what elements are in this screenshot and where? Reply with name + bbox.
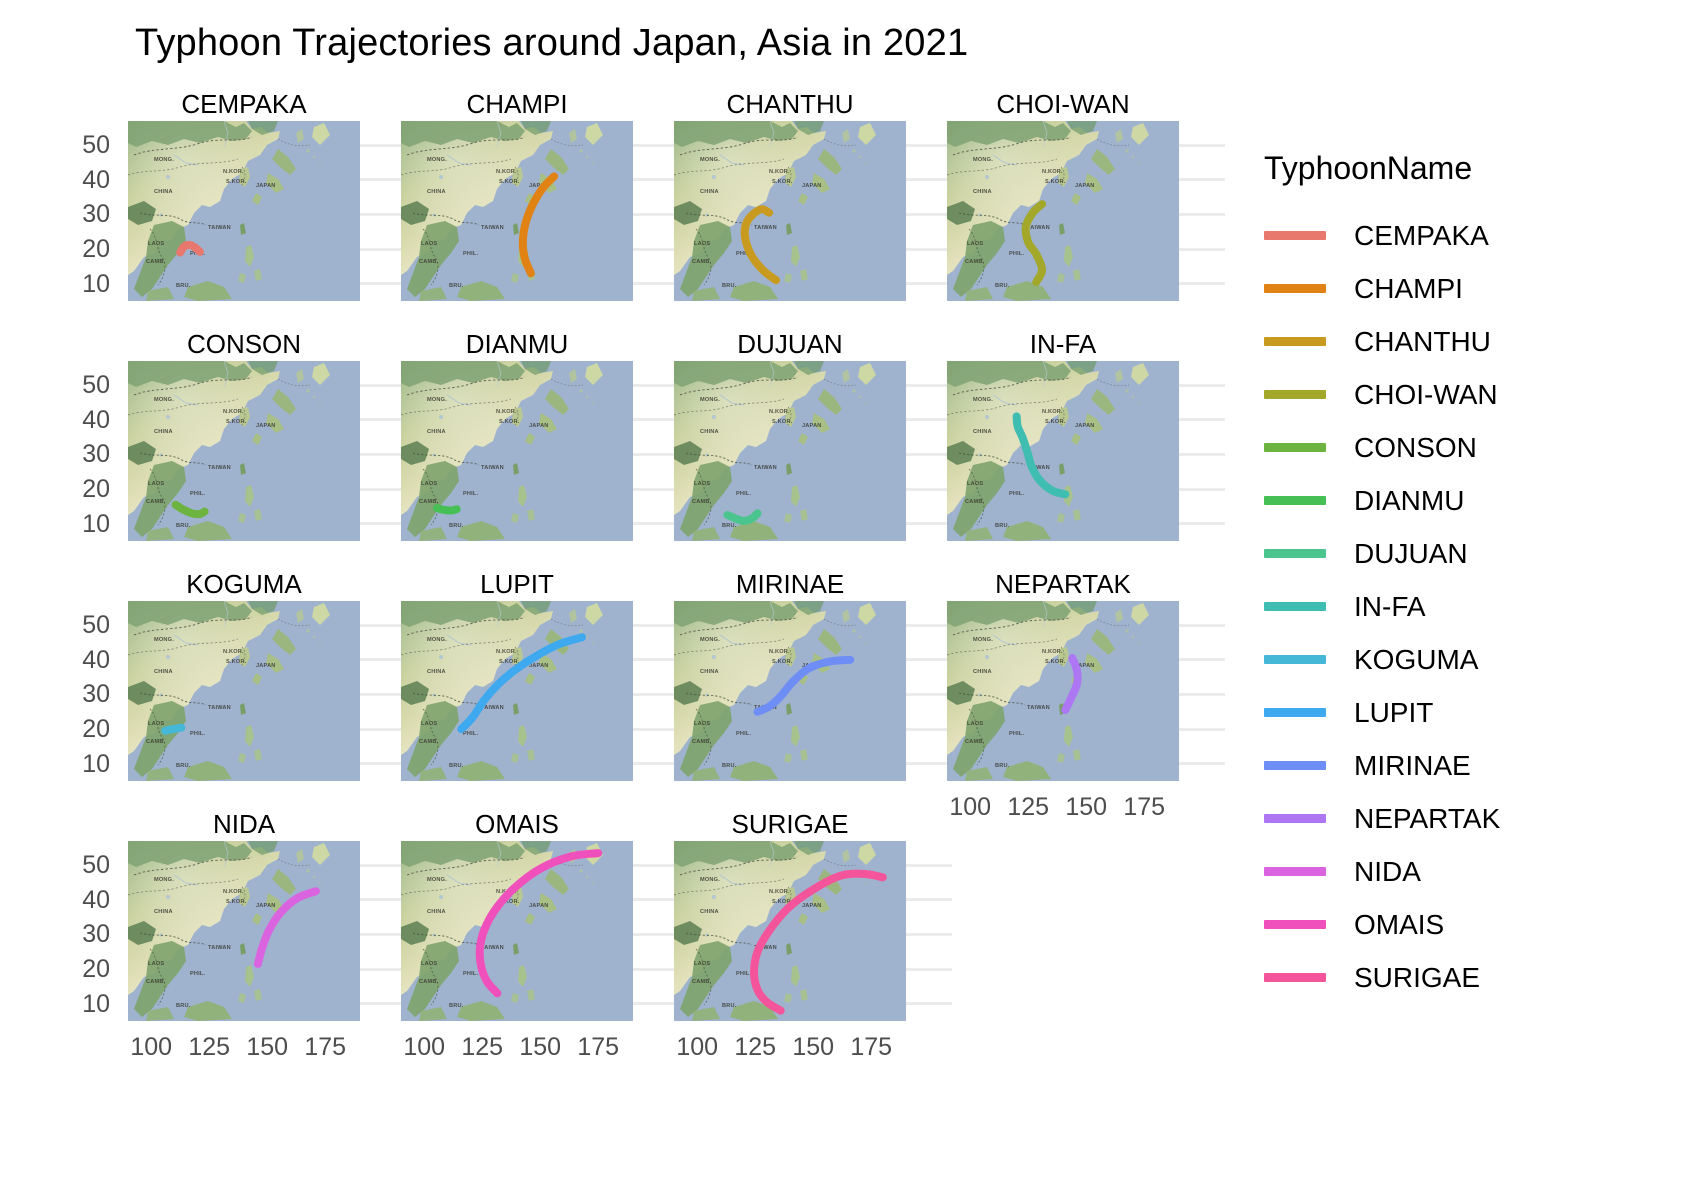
y-tick-label: 40 (58, 168, 110, 193)
y-gridline (1179, 418, 1225, 421)
y-tick-label: 20 (58, 717, 110, 742)
y-gridline (633, 522, 679, 525)
trajectory-layer (128, 361, 360, 541)
x-tick-label: 100 (939, 795, 1001, 820)
legend-item-label: NEPARTAK (1354, 803, 1500, 835)
x-tick-label: 125 (451, 1035, 513, 1060)
y-tick-label: 30 (58, 442, 110, 467)
y-tick-label: 10 (58, 992, 110, 1017)
legend-color-swatch (1264, 337, 1326, 346)
typhoon-track-cempaka (180, 245, 200, 253)
gridline-gutter-left (114, 361, 128, 541)
y-gridline (906, 144, 952, 147)
map-panel: MONG. N.KOR. S.KOR. JAPAN CHINA TAIWAN L… (128, 361, 360, 541)
typhoon-track-dianmu (437, 508, 457, 510)
y-gridline (633, 418, 679, 421)
gridline-gutter (906, 361, 952, 541)
facet-strip-label: DIANMU (401, 328, 633, 361)
y-gridline (906, 282, 952, 285)
y-gridline (633, 968, 679, 971)
y-gridline (1179, 762, 1225, 765)
gridline-gutter (906, 841, 952, 1021)
legend-color-swatch (1264, 655, 1326, 664)
y-gridline (906, 248, 952, 251)
typhoon-track-omais (480, 853, 599, 993)
y-gridline (906, 488, 952, 491)
gridline-gutter (1179, 601, 1225, 781)
y-gridline (1179, 384, 1225, 387)
y-tick-label: 40 (58, 408, 110, 433)
y-gridline (360, 144, 406, 147)
legend-item[interactable]: CHAMPI (1262, 262, 1682, 315)
typhoon-track-choi-wan (1026, 204, 1042, 282)
y-tick-label: 10 (58, 512, 110, 537)
gridline-gutter-left (114, 121, 128, 301)
y-gridline (906, 968, 952, 971)
facet-panel-omais: OMAIS (401, 808, 633, 1021)
map-panel: MONG. N.KOR. S.KOR. JAPAN CHINA TAIWAN L… (401, 841, 633, 1021)
y-gridline (633, 693, 679, 696)
map-panel: MONG. N.KOR. S.KOR. JAPAN CHINA TAIWAN L… (674, 841, 906, 1021)
legend-item-label: CHAMPI (1354, 273, 1463, 305)
legend-item-label: IN-FA (1354, 591, 1426, 623)
y-tick-label: 50 (58, 373, 110, 398)
trajectory-layer (947, 361, 1179, 541)
facet-strip-label: NEPARTAK (947, 568, 1179, 601)
gridline-gutter (633, 361, 679, 541)
map-panel: MONG. N.KOR. S.KOR. JAPAN CHINA TAIWAN L… (947, 121, 1179, 301)
y-tick-label: 20 (58, 237, 110, 262)
facet-strip-label: IN-FA (947, 328, 1179, 361)
map-panel: MONG. N.KOR. S.KOR. JAPAN CHINA TAIWAN L… (674, 361, 906, 541)
legend-color-swatch (1264, 814, 1326, 823)
y-gridline (633, 728, 679, 731)
legend-item-label: CHANTHU (1354, 326, 1491, 358)
gridline-gutter (1179, 361, 1225, 541)
y-gridline (633, 453, 679, 456)
gridline-gutter (360, 841, 406, 1021)
typhoon-track-nida (258, 891, 316, 964)
gridline-gutter (360, 121, 406, 301)
y-gridline (633, 282, 679, 285)
x-tick-label: 175 (840, 1035, 902, 1060)
y-gridline (906, 213, 952, 216)
legend-color-swatch (1264, 920, 1326, 929)
facet-strip-label: MIRINAE (674, 568, 906, 601)
x-tick-label: 100 (120, 1035, 182, 1060)
y-gridline (906, 522, 952, 525)
trajectory-layer (401, 601, 633, 781)
facet-strip-label: CHANTHU (674, 88, 906, 121)
legend-color-swatch (1264, 708, 1326, 717)
y-gridline (906, 933, 952, 936)
typhoon-track-nepartak (1065, 658, 1077, 710)
legend-item[interactable]: CHANTHU (1262, 315, 1682, 368)
legend-item-label: OMAIS (1354, 909, 1444, 941)
y-gridline (906, 453, 952, 456)
typhoon-track-conson (176, 505, 205, 514)
facet-strip-label: SURIGAE (674, 808, 906, 841)
y-gridline (1179, 144, 1225, 147)
trajectory-layer (674, 841, 906, 1021)
facet-panel-conson: CONSON (128, 328, 360, 541)
y-gridline (633, 213, 679, 216)
x-tick-label: 150 (1055, 795, 1117, 820)
y-gridline (360, 418, 406, 421)
y-gridline (1179, 178, 1225, 181)
y-gridline (906, 693, 952, 696)
y-gridline (906, 1002, 952, 1005)
facet-panel-dujuan: DUJUAN (674, 328, 906, 541)
y-tick-label: 30 (58, 922, 110, 947)
y-gridline (906, 418, 952, 421)
facet-strip-label: NIDA (128, 808, 360, 841)
y-gridline (633, 1002, 679, 1005)
y-gridline (360, 658, 406, 661)
y-gridline (1179, 488, 1225, 491)
y-gridline (906, 178, 952, 181)
legend-item[interactable]: NIDA (1262, 845, 1682, 898)
trajectory-layer (128, 601, 360, 781)
legend-item[interactable]: DIANMU (1262, 474, 1682, 527)
facet-panel-nida: NIDA (128, 808, 360, 1021)
y-gridline (360, 282, 406, 285)
legend-title: TyphoonName (1264, 150, 1682, 187)
y-gridline (360, 384, 406, 387)
legend-item[interactable]: KOGUMA (1262, 633, 1682, 686)
legend-item-label: DUJUAN (1354, 538, 1468, 570)
legend-item-list: CEMPAKACHAMPICHANTHUCHOI-WANCONSONDIANMU… (1262, 209, 1682, 1004)
facet-panel-choi-wan: CHOI-WAN (947, 88, 1179, 301)
legend-color-swatch (1264, 284, 1326, 293)
legend-item-label: CHOI-WAN (1354, 379, 1498, 411)
legend-item[interactable]: CONSON (1262, 421, 1682, 474)
y-gridline (360, 522, 406, 525)
map-panel: MONG. N.KOR. S.KOR. JAPAN CHINA TAIWAN L… (128, 601, 360, 781)
x-tick-label: 150 (509, 1035, 571, 1060)
y-gridline (633, 488, 679, 491)
y-gridline (906, 384, 952, 387)
facet-panel-cempaka: CEMPAKA (128, 88, 360, 301)
y-gridline (360, 693, 406, 696)
facet-panel-in-fa: IN-FA (947, 328, 1179, 541)
y-gridline (1179, 282, 1225, 285)
y-tick-label: 40 (58, 648, 110, 673)
y-tick-label: 10 (58, 752, 110, 777)
facet-strip-label: CHAMPI (401, 88, 633, 121)
facet-strip-label: CONSON (128, 328, 360, 361)
trajectory-layer (674, 121, 906, 301)
legend-color-swatch (1264, 390, 1326, 399)
trajectory-layer (128, 841, 360, 1021)
y-gridline (1179, 453, 1225, 456)
legend-item-label: MIRINAE (1354, 750, 1471, 782)
y-gridline (360, 933, 406, 936)
facet-strip-label: OMAIS (401, 808, 633, 841)
y-gridline (633, 248, 679, 251)
x-tick-label: 100 (393, 1035, 455, 1060)
legend-item-label: DIANMU (1354, 485, 1464, 517)
gridline-gutter (906, 121, 952, 301)
typhoon-track-koguma (165, 728, 181, 731)
x-tick-label: 175 (567, 1035, 629, 1060)
trajectory-layer (947, 601, 1179, 781)
y-gridline (633, 178, 679, 181)
trajectory-layer (401, 361, 633, 541)
y-gridline (360, 762, 406, 765)
trajectory-layer (401, 121, 633, 301)
y-gridline (1179, 693, 1225, 696)
map-panel: MONG. N.KOR. S.KOR. JAPAN CHINA TAIWAN L… (401, 121, 633, 301)
y-tick-label: 30 (58, 202, 110, 227)
y-gridline (633, 144, 679, 147)
facet-strip-label: LUPIT (401, 568, 633, 601)
x-tick-label: 175 (294, 1035, 356, 1060)
legend-color-swatch (1264, 496, 1326, 505)
facet-panel-koguma: KOGUMA (128, 568, 360, 781)
typhoon-track-mirinae (758, 660, 851, 712)
figure-root: Typhoon Trajectories around Japan, Asia … (0, 0, 1694, 1202)
facet-strip-label: KOGUMA (128, 568, 360, 601)
y-gridline (633, 658, 679, 661)
legend-item-label: NIDA (1354, 856, 1421, 888)
x-tick-label: 100 (666, 1035, 728, 1060)
y-gridline (360, 898, 406, 901)
typhoon-track-dujuan (727, 513, 757, 521)
y-gridline (360, 728, 406, 731)
y-gridline (906, 864, 952, 867)
map-panel: MONG. N.KOR. S.KOR. JAPAN CHINA TAIWAN L… (947, 601, 1179, 781)
map-panel: MONG. N.KOR. S.KOR. JAPAN CHINA TAIWAN L… (674, 121, 906, 301)
x-tick-label: 125 (997, 795, 1059, 820)
facet-panel-mirinae: MIRINAE (674, 568, 906, 781)
legend-item[interactable]: OMAIS (1262, 898, 1682, 951)
y-gridline (906, 624, 952, 627)
gridline-gutter (633, 121, 679, 301)
legend-item[interactable]: CHOI-WAN (1262, 368, 1682, 421)
legend-item[interactable]: LUPIT (1262, 686, 1682, 739)
x-tick-label: 175 (1113, 795, 1175, 820)
legend-color-swatch (1264, 602, 1326, 611)
y-gridline (360, 488, 406, 491)
y-gridline (633, 864, 679, 867)
legend-color-swatch (1264, 973, 1326, 982)
typhoon-track-surigae (754, 874, 883, 1011)
gridline-gutter (906, 601, 952, 781)
y-gridline (1179, 624, 1225, 627)
x-tick-label: 150 (236, 1035, 298, 1060)
y-gridline (633, 624, 679, 627)
gridline-gutter (1179, 121, 1225, 301)
y-gridline (1179, 248, 1225, 251)
y-gridline (360, 1002, 406, 1005)
legend-item-label: SURIGAE (1354, 962, 1480, 994)
trajectory-layer (128, 121, 360, 301)
y-gridline (906, 658, 952, 661)
y-gridline (360, 864, 406, 867)
y-tick-label: 50 (58, 853, 110, 878)
legend-color-swatch (1264, 231, 1326, 240)
y-gridline (360, 248, 406, 251)
trajectory-layer (674, 361, 906, 541)
trajectory-layer (947, 121, 1179, 301)
y-gridline (360, 453, 406, 456)
y-gridline (633, 762, 679, 765)
gridline-gutter (360, 361, 406, 541)
y-tick-label: 40 (58, 888, 110, 913)
typhoon-track-in-fa (1017, 416, 1066, 494)
gridline-gutter (633, 841, 679, 1021)
gridline-gutter (633, 601, 679, 781)
y-tick-label: 30 (58, 682, 110, 707)
trajectory-layer (401, 841, 633, 1021)
facet-strip-label: CEMPAKA (128, 88, 360, 121)
y-tick-label: 10 (58, 272, 110, 297)
facet-panel-nepartak: NEPARTAK (947, 568, 1179, 781)
y-gridline (906, 728, 952, 731)
map-panel: MONG. N.KOR. S.KOR. JAPAN CHINA TAIWAN L… (128, 841, 360, 1021)
y-gridline (906, 762, 952, 765)
facet-panel-lupit: LUPIT (401, 568, 633, 781)
legend-color-swatch (1264, 443, 1326, 452)
legend-item[interactable]: MIRINAE (1262, 739, 1682, 792)
facet-panel-chanthu: CHANTHU (674, 88, 906, 301)
facet-panel-surigae: SURIGAE (674, 808, 906, 1021)
facet-grid: CEMPAKA (0, 88, 1240, 1202)
x-tick-label: 150 (782, 1035, 844, 1060)
y-gridline (633, 933, 679, 936)
y-gridline (1179, 522, 1225, 525)
typhoon-track-lupit (461, 637, 582, 729)
legend-item-label: KOGUMA (1354, 644, 1478, 676)
legend-color-swatch (1264, 867, 1326, 876)
map-panel: MONG. N.KOR. S.KOR. JAPAN CHINA TAIWAN L… (674, 601, 906, 781)
legend-item-label: LUPIT (1354, 697, 1433, 729)
y-gridline (906, 898, 952, 901)
y-tick-label: 50 (58, 133, 110, 158)
gridline-gutter (360, 601, 406, 781)
y-tick-label: 20 (58, 477, 110, 502)
map-panel: MONG. N.KOR. S.KOR. JAPAN CHINA TAIWAN L… (401, 601, 633, 781)
trajectory-layer (674, 601, 906, 781)
legend-item[interactable]: IN-FA (1262, 580, 1682, 633)
legend-item[interactable]: SURIGAE (1262, 951, 1682, 1004)
y-gridline (1179, 658, 1225, 661)
legend: TyphoonName CEMPAKACHAMPICHANTHUCHOI-WAN… (1262, 150, 1682, 1004)
legend-item[interactable]: NEPARTAK (1262, 792, 1682, 845)
legend-color-swatch (1264, 549, 1326, 558)
y-gridline (360, 213, 406, 216)
x-tick-label: 125 (178, 1035, 240, 1060)
y-tick-label: 20 (58, 957, 110, 982)
facet-panel-champi: CHAMPI (401, 88, 633, 301)
map-panel: MONG. N.KOR. S.KOR. JAPAN CHINA TAIWAN L… (128, 121, 360, 301)
y-gridline (1179, 728, 1225, 731)
typhoon-track-chanthu (745, 209, 776, 280)
y-tick-label: 50 (58, 613, 110, 638)
facet-panel-dianmu: DIANMU (401, 328, 633, 541)
gridline-gutter-left (114, 601, 128, 781)
legend-item-label: CONSON (1354, 432, 1477, 464)
legend-item-label: CEMPAKA (1354, 220, 1489, 252)
legend-item[interactable]: CEMPAKA (1262, 209, 1682, 262)
y-gridline (633, 898, 679, 901)
y-gridline (360, 178, 406, 181)
facet-strip-label: DUJUAN (674, 328, 906, 361)
y-gridline (1179, 213, 1225, 216)
y-gridline (360, 968, 406, 971)
map-panel: MONG. N.KOR. S.KOR. JAPAN CHINA TAIWAN L… (401, 361, 633, 541)
y-gridline (633, 384, 679, 387)
facet-strip-label: CHOI-WAN (947, 88, 1179, 121)
x-tick-label: 125 (724, 1035, 786, 1060)
legend-color-swatch (1264, 761, 1326, 770)
y-gridline (360, 624, 406, 627)
map-panel: MONG. N.KOR. S.KOR. JAPAN CHINA TAIWAN L… (947, 361, 1179, 541)
chart-title: Typhoon Trajectories around Japan, Asia … (135, 22, 968, 65)
typhoon-track-champi (523, 176, 554, 273)
legend-item[interactable]: DUJUAN (1262, 527, 1682, 580)
gridline-gutter-left (114, 841, 128, 1021)
